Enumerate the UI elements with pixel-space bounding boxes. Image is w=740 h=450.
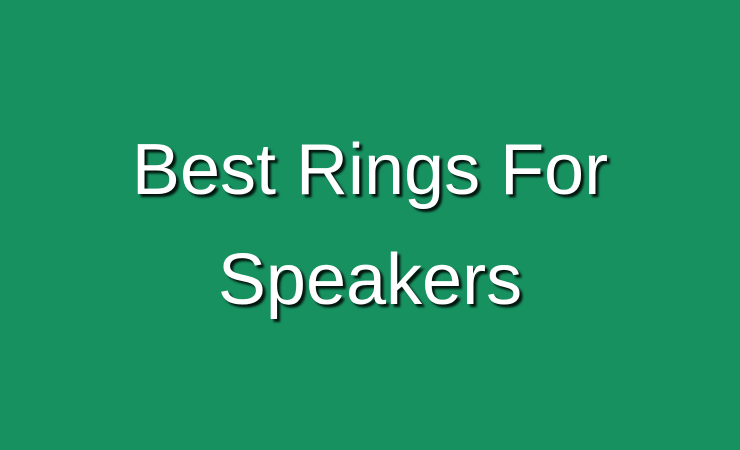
page-title: Best Rings For Speakers bbox=[0, 115, 740, 335]
featured-image-banner: Best Rings For Speakers bbox=[0, 0, 740, 450]
